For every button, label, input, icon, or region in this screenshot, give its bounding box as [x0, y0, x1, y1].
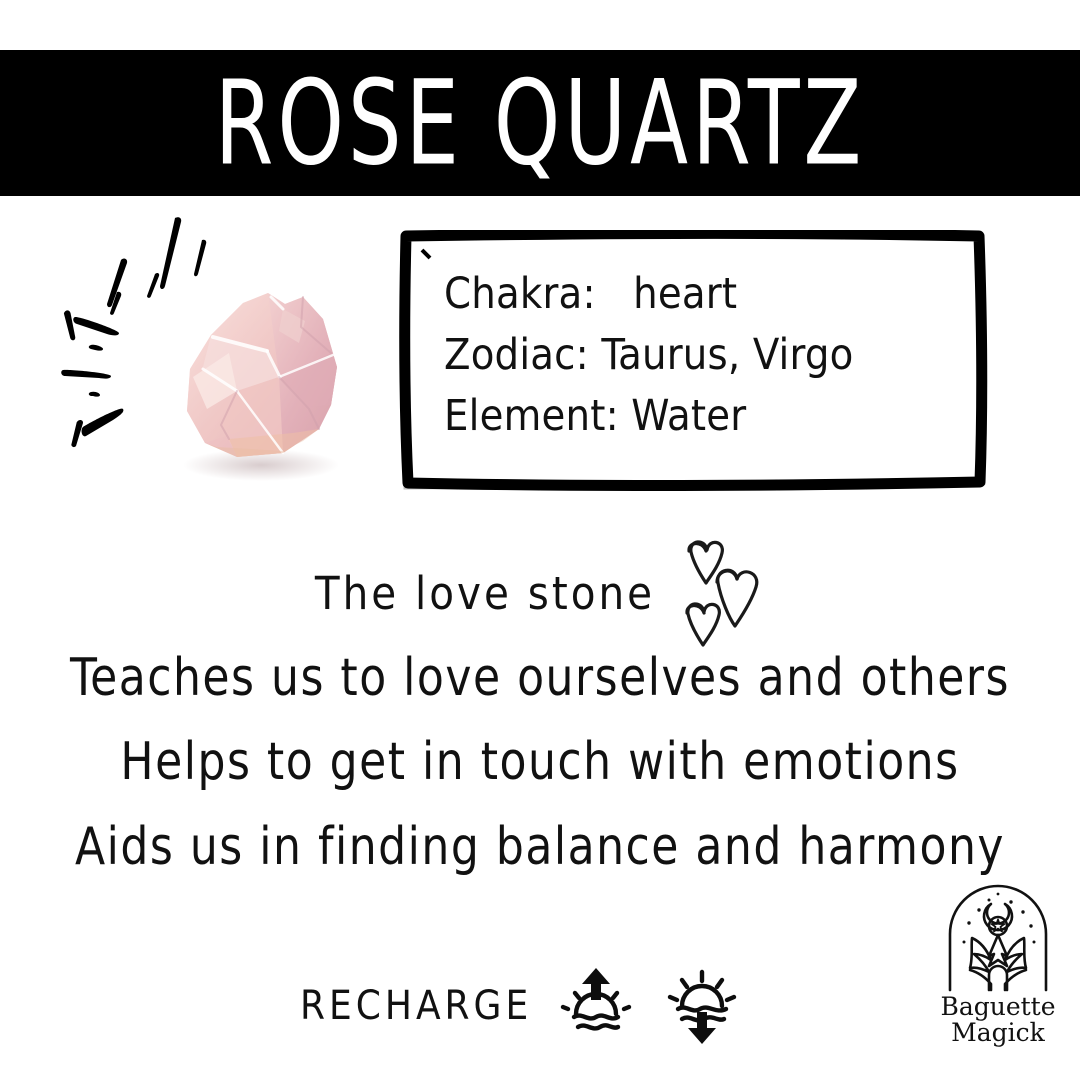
crystal-info-card: ROSE QUARTZ [0, 0, 1080, 1080]
baguette-magick-mark-icon [939, 876, 1057, 994]
properties-box: Chakra: heart Zodiac: Taurus, Virgo Elem… [396, 230, 988, 492]
tagline-row: The love stone [0, 548, 1080, 638]
sunrise-icon [554, 964, 638, 1048]
benefit-line-2: Helps to get in touch with emotions [120, 718, 959, 807]
brand-logo: Baguette Magick [930, 876, 1066, 1062]
tagline-text: The love stone [315, 567, 655, 620]
page-title: ROSE QUARTZ [215, 64, 866, 181]
property-row-zodiac: Zodiac: Taurus, Virgo [444, 325, 974, 386]
brand-name-line2: Magick [930, 1020, 1066, 1046]
rose-quartz-crystal-icon [133, 257, 368, 492]
properties-list: Chakra: heart Zodiac: Taurus, Virgo Elem… [444, 264, 974, 464]
brand-name: Baguette Magick [930, 994, 1066, 1046]
header-band: ROSE QUARTZ [0, 50, 1080, 196]
property-row-chakra: Chakra: heart [444, 264, 974, 325]
benefit-line-3: Aids us in finding balance and harmony [75, 802, 1005, 891]
property-row-element: Element: Water [444, 386, 974, 447]
hearts-icon [669, 536, 765, 648]
crystal-illustration [55, 212, 385, 502]
recharge-section: RECHARGE [300, 968, 744, 1044]
sunset-icon [660, 964, 744, 1048]
brand-name-line1: Baguette [930, 994, 1066, 1020]
recharge-label: RECHARGE [300, 983, 532, 1029]
benefits-list: Teaches us to love ourselves and others … [0, 636, 1080, 889]
benefit-line-1: Teaches us to love ourselves and others [70, 633, 1010, 722]
